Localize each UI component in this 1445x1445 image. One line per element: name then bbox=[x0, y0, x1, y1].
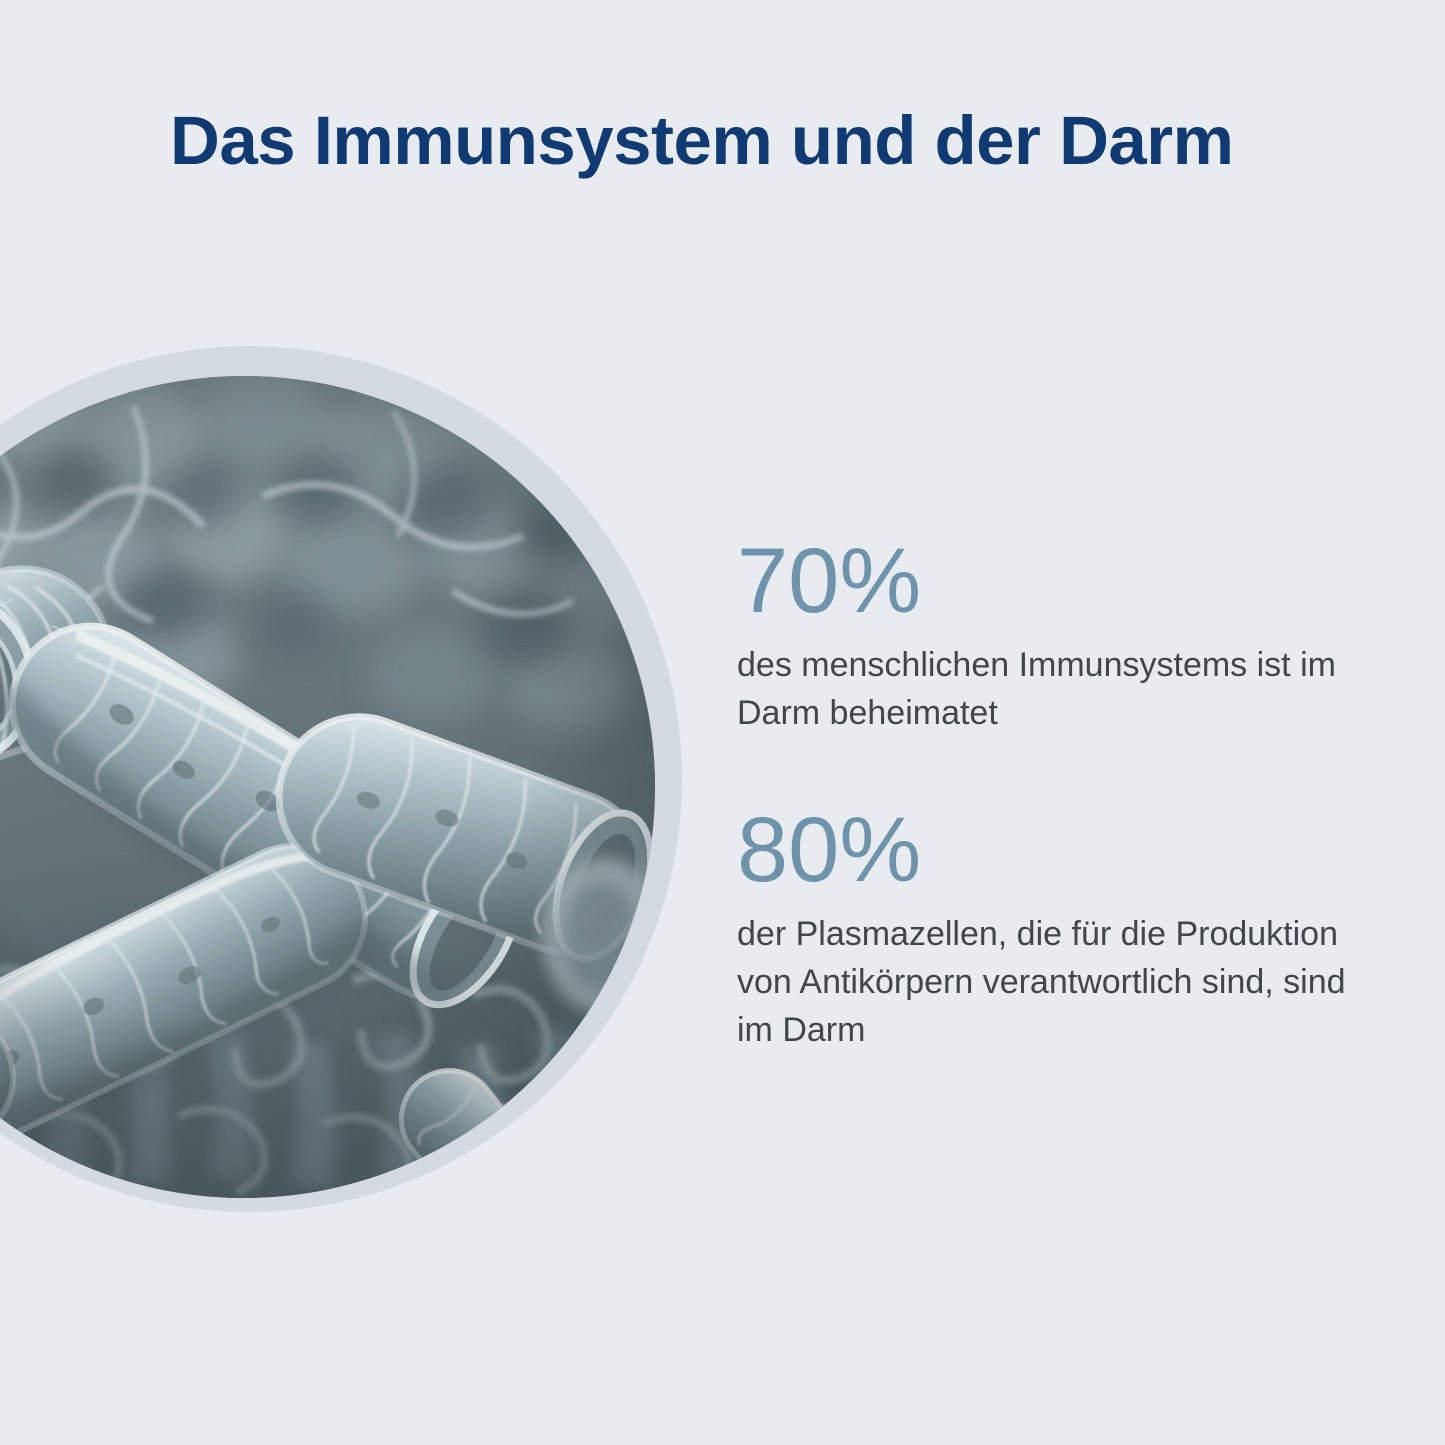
page-title: Das Immunsystem und der Darm bbox=[170, 103, 1234, 179]
stat-item: 80% der Plasmazellen, die für die Produk… bbox=[737, 804, 1377, 1055]
infographic-root: Das Immunsystem und der Darm bbox=[0, 0, 1445, 1445]
stat-value: 80% bbox=[737, 804, 1377, 896]
bacteria-microscopy-photo bbox=[0, 376, 655, 1198]
stat-value: 70% bbox=[737, 535, 1377, 627]
bacteria-illustration-svg bbox=[0, 376, 655, 1198]
stat-description: des menschlichen Immunsystems ist im Dar… bbox=[737, 641, 1357, 738]
statistics-list: 70% des menschlichen Immunsystems ist im… bbox=[737, 535, 1377, 1054]
stat-description: der Plasmazellen, die für die Produktion… bbox=[737, 910, 1357, 1055]
bacteria-photo-circle bbox=[0, 346, 682, 1212]
stat-item: 70% des menschlichen Immunsystems ist im… bbox=[737, 535, 1377, 738]
